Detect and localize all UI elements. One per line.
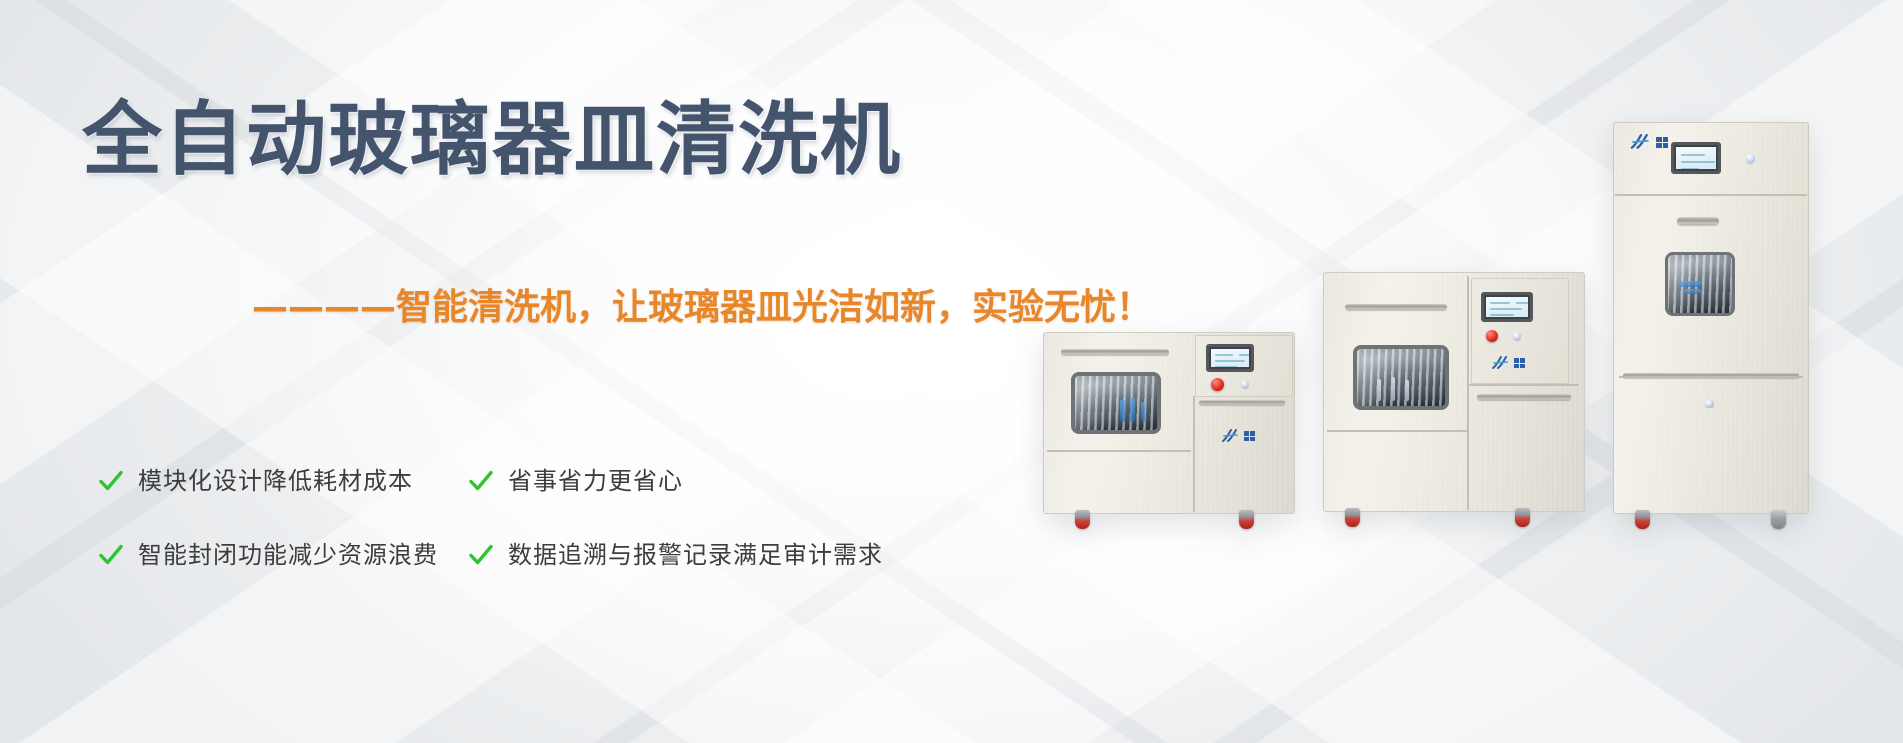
product-image-washer-tall — [1613, 122, 1809, 514]
brand-squares-icon — [1656, 137, 1668, 148]
touchscreen-display[interactable] — [1671, 142, 1721, 174]
brand-mark-icon — [1491, 356, 1511, 370]
brand-logo — [1491, 356, 1525, 370]
viewing-window — [1665, 252, 1735, 316]
product-hero-banner: 全自动玻璃器皿清洗机 ————智能清洗机，让玻璃器皿光洁如新，实验无忧！ 模块化… — [0, 0, 1903, 743]
emergency-stop-button[interactable] — [1211, 378, 1224, 391]
door-handle — [1061, 349, 1169, 355]
door-handle — [1677, 217, 1719, 225]
lower-compartment-handle — [1623, 373, 1799, 378]
lower-lock-button[interactable] — [1705, 400, 1714, 407]
caster-wheel — [1239, 510, 1254, 529]
viewing-window — [1071, 372, 1161, 434]
product-image-washer-small — [1043, 332, 1295, 514]
check-icon — [468, 468, 494, 494]
banner-text-block: 全自动玻璃器皿清洗机 ————智能清洗机，让玻璃器皿光洁如新，实验无忧！ 模块化… — [0, 0, 1180, 743]
brand-logo — [1221, 429, 1255, 443]
lower-drawer-handle — [1199, 400, 1285, 405]
lower-drawer-handle — [1477, 394, 1571, 400]
feature-label: 智能封闭功能减少资源浪费 — [138, 543, 438, 567]
power-indicator-button[interactable] — [1746, 154, 1755, 163]
caster-wheel — [1345, 508, 1360, 527]
feature-item: 省事省力更省心 — [468, 468, 888, 494]
product-image-washer-medium — [1323, 272, 1585, 512]
touchscreen-display[interactable] — [1481, 292, 1533, 322]
check-icon — [468, 542, 494, 568]
emergency-stop-button[interactable] — [1486, 330, 1498, 342]
brand-squares-icon — [1244, 431, 1255, 441]
banner-headline: 全自动玻璃器皿清洗机 — [82, 100, 902, 180]
feature-label: 省事省力更省心 — [508, 469, 683, 493]
product-image-group — [1023, 0, 1903, 743]
caster-wheel — [1771, 510, 1786, 529]
caster-wheel — [1075, 510, 1090, 529]
caster-wheel — [1515, 508, 1530, 527]
door-handle — [1345, 304, 1447, 310]
feature-item: 数据追溯与报警记录满足审计需求 — [468, 542, 888, 568]
brand-mark-icon — [1629, 134, 1653, 150]
brand-squares-icon — [1514, 358, 1525, 368]
feature-label: 模块化设计降低耗材成本 — [138, 469, 413, 493]
touchscreen-display[interactable] — [1206, 344, 1254, 372]
banner-subheadline: ————智能清洗机，让玻璃器皿光洁如新，实验无忧！ — [252, 290, 1152, 326]
feature-label: 数据追溯与报警记录满足审计需求 — [508, 543, 883, 567]
feature-list: 模块化设计降低耗材成本 省事省力更省心 智能封闭功能减少资源浪费 数据追溯与报警… — [98, 468, 1058, 568]
check-icon — [98, 542, 124, 568]
feature-item: 智能封闭功能减少资源浪费 — [98, 542, 468, 568]
power-indicator-button[interactable] — [1241, 380, 1249, 388]
caster-wheel — [1635, 510, 1650, 529]
brand-logo — [1629, 134, 1668, 150]
feature-item: 模块化设计降低耗材成本 — [98, 468, 468, 494]
viewing-window — [1353, 345, 1449, 410]
power-indicator-button[interactable] — [1513, 332, 1521, 340]
check-icon — [98, 468, 124, 494]
brand-mark-icon — [1221, 429, 1241, 443]
